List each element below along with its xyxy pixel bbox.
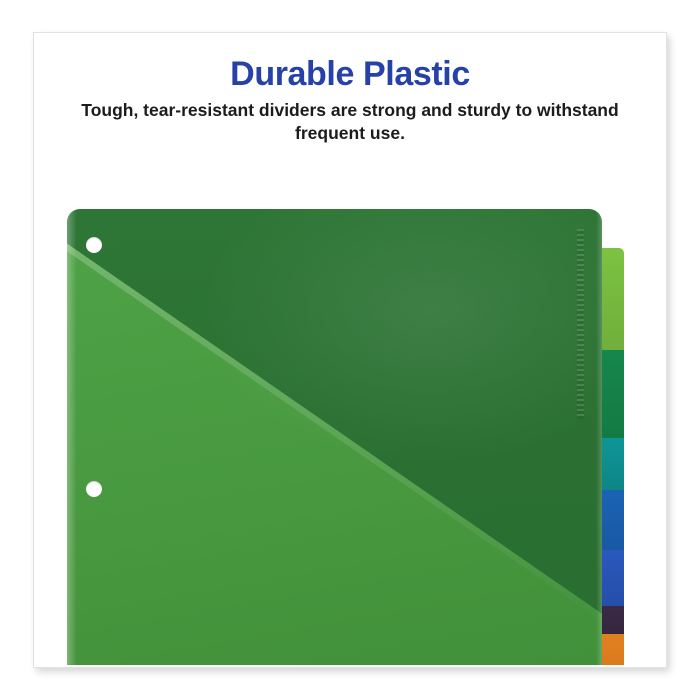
photo-baseline [34, 665, 667, 668]
page-subtitle: Tough, tear-resistant dividers are stron… [72, 99, 628, 145]
sheet-right-edge-highlight [596, 209, 602, 668]
sheet-gloss-highlight [67, 209, 602, 668]
punch-hole-1 [86, 237, 102, 253]
product-feature-card: Durable Plastic Tough, tear-resistant di… [33, 32, 667, 668]
page-title: Durable Plastic [34, 57, 666, 93]
product-photo [34, 153, 667, 668]
punch-hole-2 [86, 481, 102, 497]
perforation-strip-icon [577, 229, 584, 419]
sheet-left-edge-highlight [67, 209, 76, 668]
divider-sheet [67, 209, 602, 668]
